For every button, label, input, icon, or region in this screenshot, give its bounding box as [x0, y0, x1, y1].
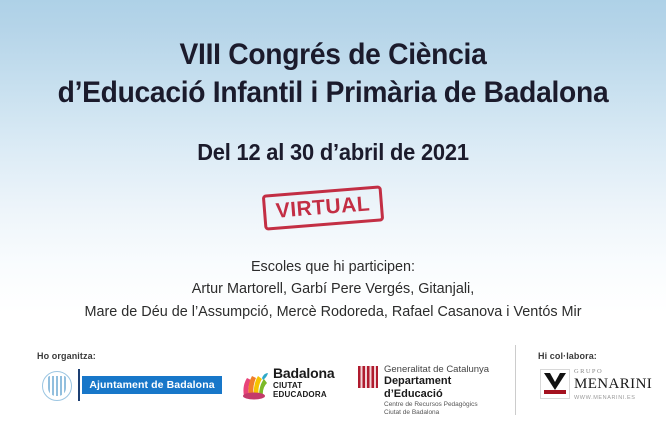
footer-divider: [515, 345, 516, 415]
colored-hand-fan-icon: [238, 368, 270, 400]
menarini-name: MENARINI: [574, 376, 652, 392]
badalona-educadora-text: Badalona CIUTAT EDUCADORA: [273, 366, 334, 399]
menarini-text: GRUPO MENARINI WWW.MENARINI.ES: [574, 368, 652, 402]
menarini-grupo-label: GRUPO: [574, 368, 652, 376]
collaborator-label: Hi col·labora:: [538, 351, 597, 361]
page-title: VIII Congrés de Ciència d’Educació Infan…: [0, 36, 666, 112]
title-line-2: d’Educació Infantil i Primària de Badalo…: [20, 74, 646, 112]
menarini-m-mark-icon: [540, 369, 570, 399]
senyera-flag-icon: [358, 366, 378, 388]
organizer-label: Ho organitza:: [37, 351, 96, 361]
ajuntament-badalona-logo[interactable]: Ajuntament de Badalona: [42, 369, 222, 403]
badalona-educadora-sub1: CIUTAT: [273, 381, 334, 390]
event-dates: Del 12 al 30 d’abril de 2021: [17, 139, 650, 166]
virtual-stamp-border: VIRTUAL: [262, 185, 384, 230]
schools-line-1: Artur Martorell, Garbí Pere Vergés, Gita…: [13, 277, 652, 300]
virtual-stamp-label: VIRTUAL: [275, 192, 371, 223]
badalona-educadora-name: Badalona: [273, 366, 334, 381]
grupo-menarini-logo[interactable]: GRUPO MENARINI WWW.MENARINI.ES: [540, 368, 650, 406]
schools-heading: Escoles que hi participen:: [13, 256, 652, 277]
participating-schools: Escoles que hi participen: Artur Martore…: [0, 256, 666, 323]
schools-line-2: Mare de Déu de l’Assumpció, Mercè Rodore…: [13, 300, 652, 323]
congress-poster: VIII Congrés de Ciència d’Educació Infan…: [0, 0, 666, 427]
generalitat-line-1: Generalitat de Catalunya: [384, 364, 508, 375]
generalitat-line-4: Ciutat de Badalona: [384, 409, 508, 417]
generalitat-text: Generalitat de Catalunya Departament d’E…: [384, 364, 508, 417]
generalitat-line-3: Centre de Recursos Pedagògics: [384, 401, 508, 409]
badalona-educadora-sub2: EDUCADORA: [273, 390, 334, 399]
ajuntament-accent-bar: [78, 369, 80, 401]
ajuntament-name: Ajuntament de Badalona: [89, 379, 214, 391]
ajuntament-name-box: Ajuntament de Badalona: [82, 376, 222, 394]
title-line-1: VIII Congrés de Ciència: [20, 36, 646, 74]
badalona-ciutat-educadora-logo[interactable]: Badalona CIUTAT EDUCADORA: [238, 366, 356, 402]
generalitat-line-2: Departament d’Educació: [384, 375, 508, 401]
generalitat-catalunya-logo[interactable]: Generalitat de Catalunya Departament d’E…: [358, 364, 508, 404]
virtual-stamp: VIRTUAL: [263, 186, 389, 232]
menarini-url: WWW.MENARINI.ES: [574, 394, 652, 402]
badalona-coat-of-arms-icon: [42, 371, 72, 401]
